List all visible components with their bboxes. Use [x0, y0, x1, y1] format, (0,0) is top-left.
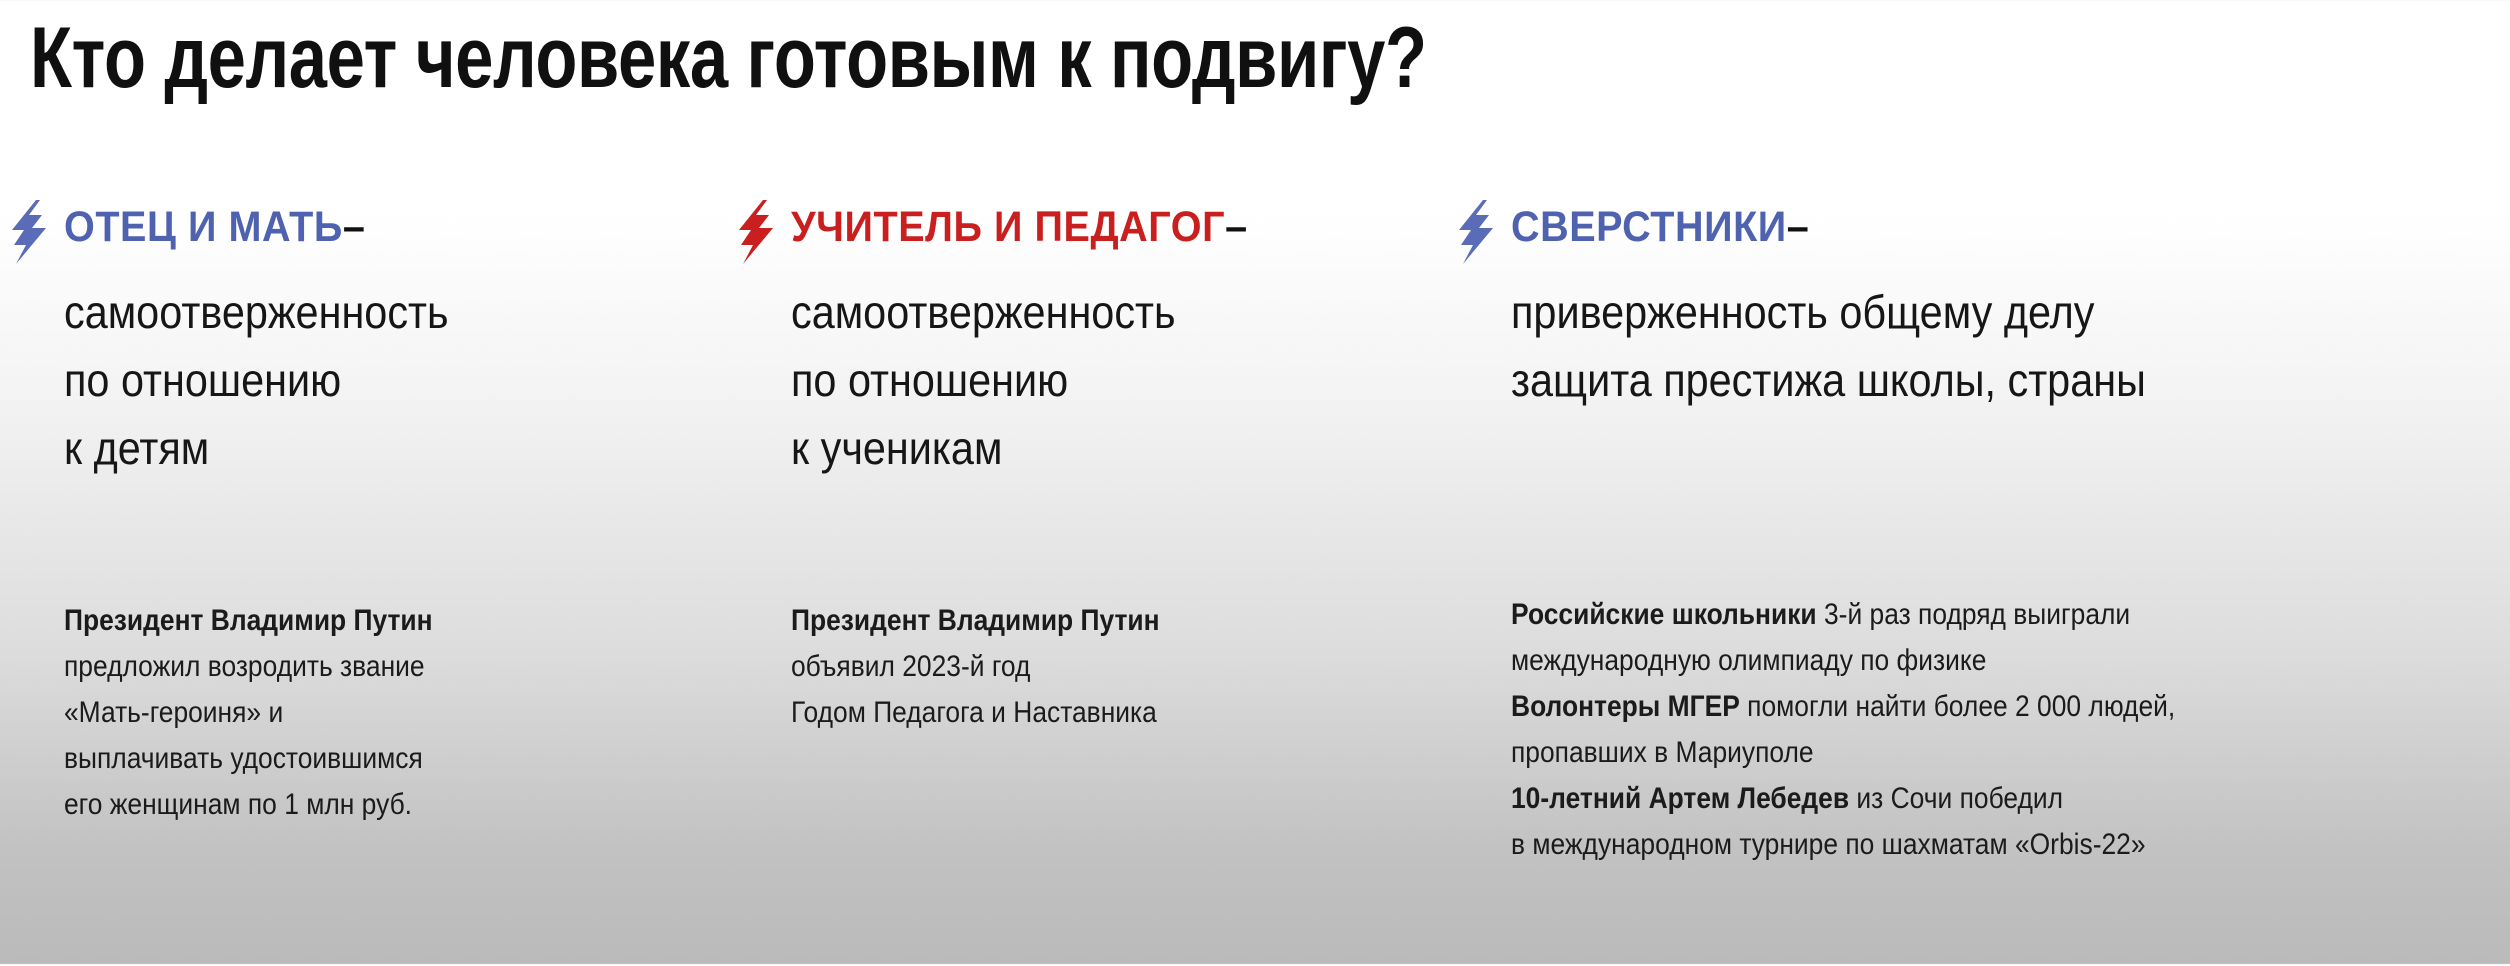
body-line: самоотверженность — [791, 284, 1176, 352]
column-heading-label: СВЕРСТНИКИ — [1511, 203, 1787, 251]
note-rest: его женщинам по 1 млн руб. — [64, 788, 412, 821]
note-line: «Мать-героиня» и — [64, 694, 433, 740]
note-line: Российские школьники 3-й раз подряд выиг… — [1511, 596, 2175, 642]
note-line: объявил 2023-й год — [791, 648, 1160, 694]
column-heading: СВЕРСТНИКИ– — [1511, 202, 1809, 252]
note-rest: из Сочи победил — [1849, 782, 2063, 815]
note-line: выплачивать удостоившимся — [64, 740, 433, 786]
columns-container: ОТЕЦ И МАТЬ– самоотверженность по отноше… — [0, 196, 2510, 966]
note-rest: 3-й раз подряд выиграли — [1817, 598, 2131, 631]
body-line: по отношению — [791, 352, 1176, 420]
column-body: самоотверженность по отношению к детям — [64, 284, 449, 488]
note-rest: Годом Педагога и Наставника — [791, 696, 1157, 729]
note-rest: объявил 2023-й год — [791, 650, 1030, 683]
column-heading: ОТЕЦ И МАТЬ– — [64, 202, 365, 252]
body-line: приверженность общему делу — [1511, 284, 2146, 352]
note-bold: 10-летний Артем Лебедев — [1511, 782, 1849, 815]
note-line: Годом Педагога и Наставника — [791, 694, 1160, 740]
column-heading: УЧИТЕЛЬ И ПЕДАГОГ– — [791, 202, 1248, 252]
note-line: международную олимпиаду по физике — [1511, 642, 2175, 688]
note-line: пропавших в Мариуполе — [1511, 734, 2175, 780]
note-line: предложил возродить звание — [64, 648, 433, 694]
infographic-slide: Кто делает человека готовым к подвигу? О… — [0, 0, 2510, 964]
column-heading-label: ОТЕЦ И МАТЬ — [64, 203, 343, 251]
column-note: Президент Владимир Путин объявил 2023-й … — [791, 602, 1160, 740]
page-title: Кто делает человека готовым к подвигу? — [30, 6, 1427, 110]
body-line: самоотверженность — [64, 284, 449, 352]
column-body: самоотверженность по отношению к ученика… — [791, 284, 1176, 488]
body-line: к ученикам — [791, 420, 1176, 488]
note-rest: в международном турнире по шахматам «Orb… — [1511, 828, 2146, 861]
lightning-bolt-icon — [1455, 200, 1497, 264]
column-parents: ОТЕЦ И МАТЬ– самоотверженность по отноше… — [8, 196, 708, 266]
column-header: УЧИТЕЛЬ И ПЕДАГОГ– — [735, 196, 1435, 266]
body-line: к детям — [64, 420, 449, 488]
lightning-bolt-icon — [735, 200, 777, 264]
body-line: по отношению — [64, 352, 449, 420]
note-line: в международном турнире по шахматам «Orb… — [1511, 826, 2175, 872]
column-heading-label: УЧИТЕЛЬ И ПЕДАГОГ — [791, 203, 1225, 251]
note-rest: предложил возродить звание — [64, 650, 425, 683]
note-rest: выплачивать удостоившимся — [64, 742, 423, 775]
column-teachers: УЧИТЕЛЬ И ПЕДАГОГ– самоотверженность по … — [735, 196, 1435, 266]
note-line: его женщинам по 1 млн руб. — [64, 786, 433, 832]
note-line: Президент Владимир Путин — [64, 602, 433, 648]
lightning-bolt-icon — [8, 200, 50, 264]
note-line: Волонтеры МГЕР помогли найти более 2 000… — [1511, 688, 2175, 734]
column-body: приверженность общему делу защита прести… — [1511, 284, 2146, 420]
note-bold: Президент Владимир Путин — [64, 604, 433, 637]
heading-dash: – — [1787, 203, 1810, 251]
column-note: Российские школьники 3-й раз подряд выиг… — [1511, 596, 2175, 872]
note-bold: Российские школьники — [1511, 598, 1817, 631]
column-header: ОТЕЦ И МАТЬ– — [8, 196, 708, 266]
note-line: Президент Владимир Путин — [791, 602, 1160, 648]
note-rest: пропавших в Мариуполе — [1511, 736, 1814, 769]
heading-dash: – — [1225, 203, 1248, 251]
note-rest: международную олимпиаду по физике — [1511, 644, 1986, 677]
column-note: Президент Владимир Путин предложил возро… — [64, 602, 433, 832]
note-rest: помогли найти более 2 000 людей, — [1740, 690, 2175, 723]
note-bold: Президент Владимир Путин — [791, 604, 1160, 637]
note-line: 10-летний Артем Лебедев из Сочи победил — [1511, 780, 2175, 826]
note-rest: «Мать-героиня» и — [64, 696, 283, 729]
note-bold: Волонтеры МГЕР — [1511, 690, 1740, 723]
column-header: СВЕРСТНИКИ– — [1455, 196, 2505, 266]
column-peers: СВЕРСТНИКИ– приверженность общему делу з… — [1455, 196, 2505, 266]
heading-dash: – — [343, 203, 366, 251]
body-line: защита престижа школы, страны — [1511, 352, 2146, 420]
